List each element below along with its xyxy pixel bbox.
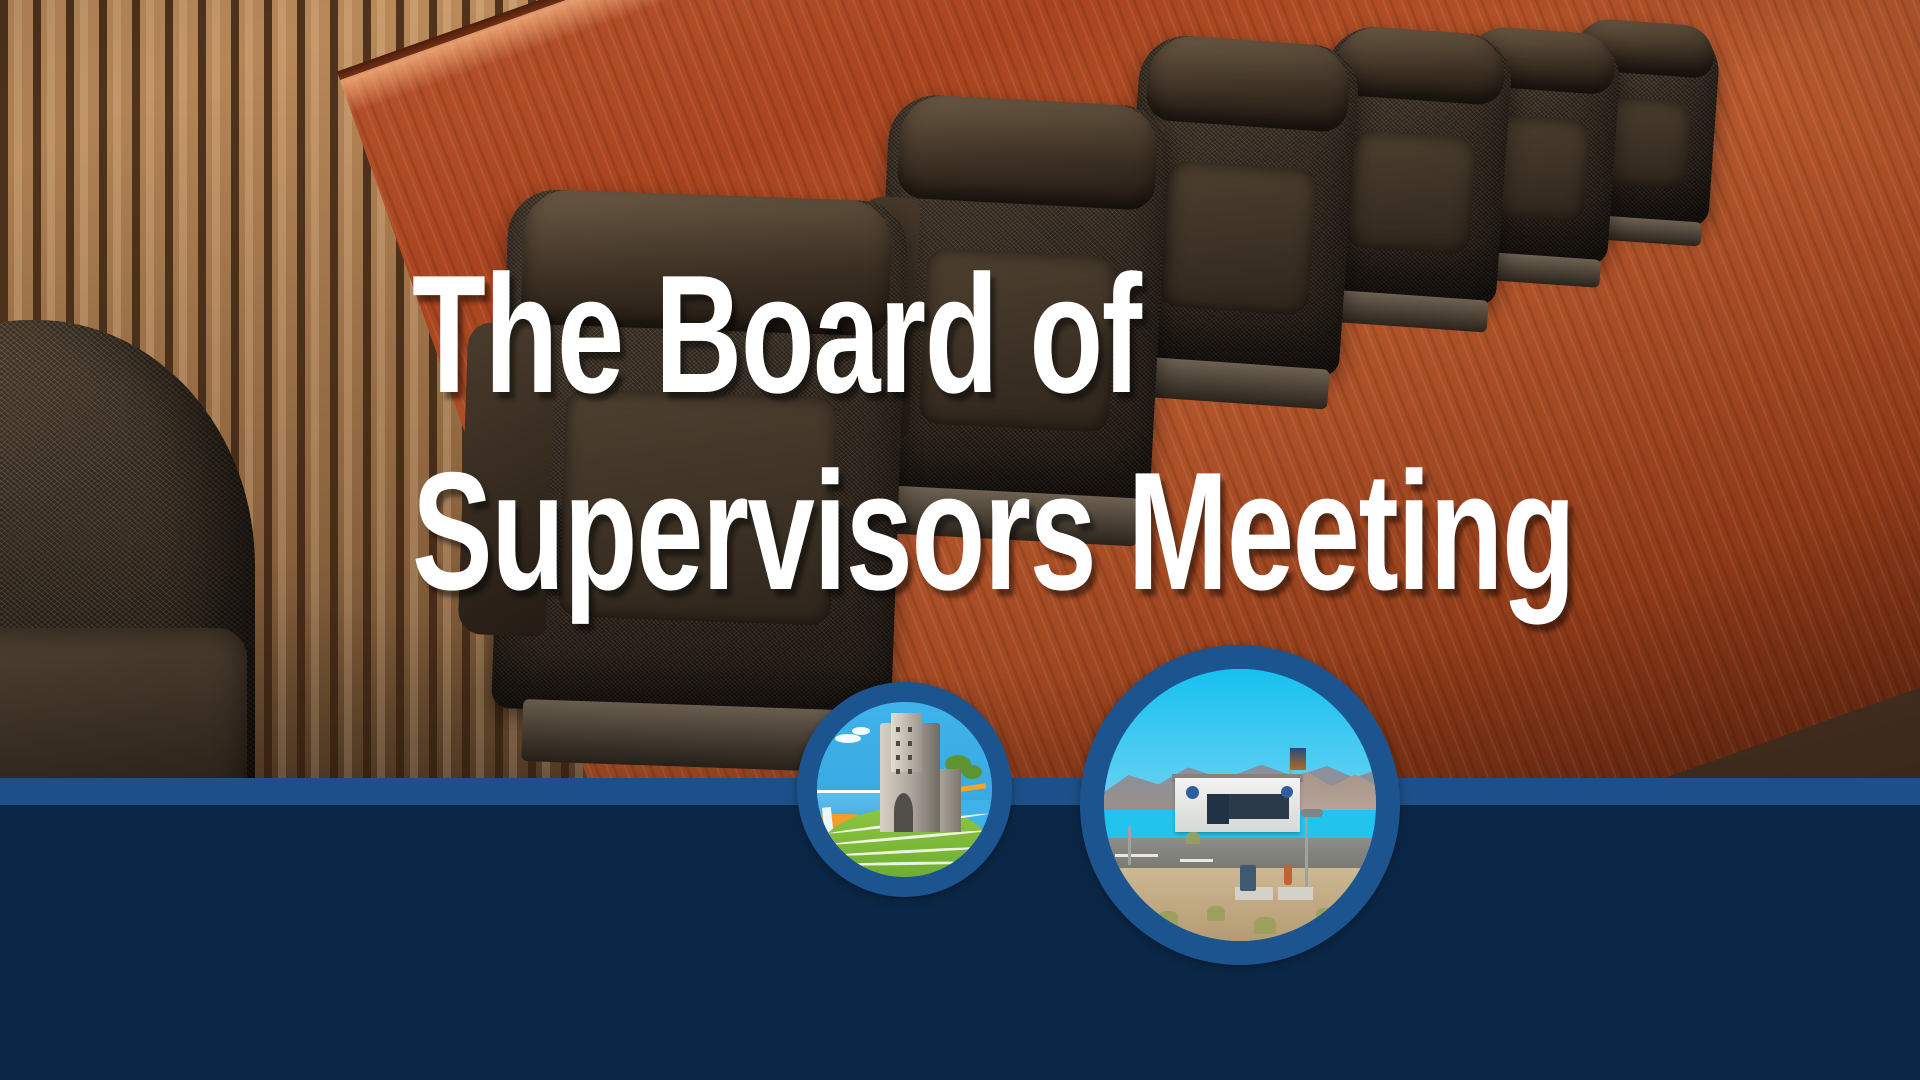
county-seal-icon	[817, 702, 992, 877]
title-line-2: Supervisors Meeting	[412, 433, 1574, 630]
county-seal-badge[interactable]	[797, 682, 1012, 897]
page-title: The Board of Supervisors Meeting	[412, 236, 1574, 630]
title-line-1: The Board of	[412, 236, 1574, 433]
station-photo-image	[1104, 669, 1376, 941]
banner-graphic: The Board of Supervisors Meeting	[0, 0, 1920, 1080]
station-photo-badge[interactable]	[1080, 645, 1400, 965]
